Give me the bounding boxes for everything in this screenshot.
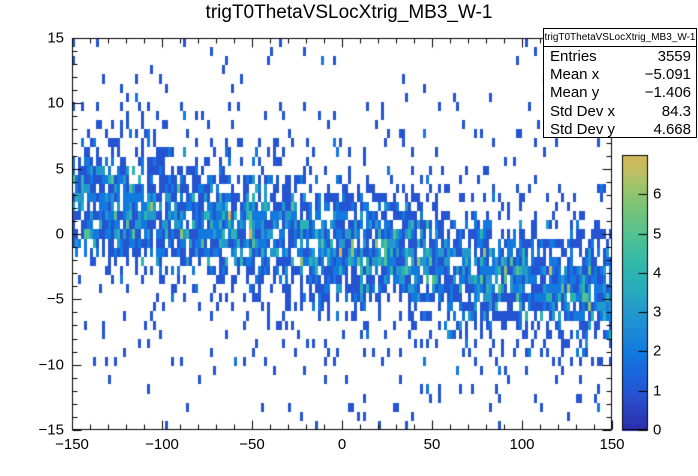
y-tick-label: 0 <box>0 226 64 243</box>
x-tick-label: 0 <box>338 436 346 453</box>
stats-value: 84.3 <box>662 103 691 120</box>
y-tick-label: 15 <box>0 30 64 47</box>
y-tick-label: −5 <box>0 291 64 308</box>
stats-label: Mean y <box>550 84 599 101</box>
stats-row: Mean y−1.406 <box>544 84 696 102</box>
z-tick-label: 4 <box>653 264 661 281</box>
z-tick-label: 1 <box>653 382 661 399</box>
y-tick-label: 10 <box>0 95 64 112</box>
stats-row: Entries3559 <box>544 47 696 65</box>
z-tick-label: 6 <box>653 186 661 203</box>
z-tick-label: 3 <box>653 304 661 321</box>
y-tick-label: −15 <box>0 422 64 439</box>
stats-rows: Entries3559Mean x−5.091Mean y−1.406Std D… <box>544 47 696 139</box>
stats-row: Std Dev y4.668 <box>544 121 696 139</box>
z-tick-label: 0 <box>653 422 661 439</box>
stats-row: Std Dev x84.3 <box>544 102 696 120</box>
x-tick-label: −50 <box>239 436 264 453</box>
stats-box-title: trigT0ThetaVSLocXtrig_MB3_W-1 <box>544 29 696 47</box>
stats-value: 3559 <box>658 48 691 65</box>
z-tick-label: 5 <box>653 225 661 242</box>
stats-value: 4.668 <box>653 121 691 138</box>
stats-label: Entries <box>550 48 597 65</box>
y-tick-label: −10 <box>0 356 64 373</box>
root-canvas: trigT0ThetaVSLocXtrig_MB3_W-1 trigT0Thet… <box>0 0 698 476</box>
x-tick-label: 50 <box>424 436 441 453</box>
stats-label: Mean x <box>550 66 599 83</box>
x-tick-label: −100 <box>145 436 179 453</box>
x-tick-label: −150 <box>55 436 89 453</box>
stats-box[interactable]: trigT0ThetaVSLocXtrig_MB3_W-1 Entries355… <box>543 28 697 138</box>
stats-value: −5.091 <box>645 66 691 83</box>
y-tick-label: 5 <box>0 160 64 177</box>
stats-row: Mean x−5.091 <box>544 65 696 83</box>
stats-value: −1.406 <box>645 84 691 101</box>
stats-label: Std Dev y <box>550 121 615 138</box>
x-tick-label: 100 <box>509 436 534 453</box>
stats-label: Std Dev x <box>550 103 615 120</box>
x-tick-label: 150 <box>599 436 624 453</box>
z-tick-label: 2 <box>653 343 661 360</box>
